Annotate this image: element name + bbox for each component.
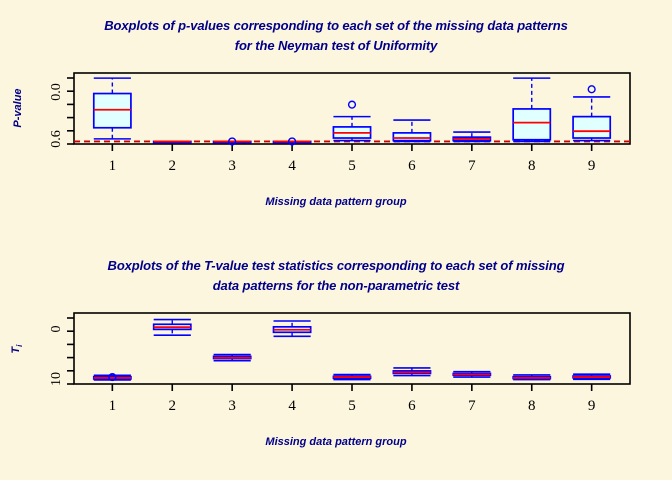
boxplot-box-group — [333, 101, 370, 140]
x-axis-tick-label: 1 — [109, 398, 117, 414]
x-axis-tick-label: 7 — [468, 398, 476, 414]
x-axis-tick-label: 8 — [528, 398, 536, 414]
x-axis-tick-label: 3 — [228, 398, 236, 414]
x-axis-label-tvalues: Missing data pattern group — [0, 436, 672, 448]
boxplot-box-group — [94, 78, 131, 139]
x-axis-tick-label: 4 — [288, 158, 296, 174]
x-axis-label-pvalues: Missing data pattern group — [0, 196, 672, 208]
y-axis-tick-label: 10 — [49, 372, 64, 386]
chart-panel-pvalues: Boxplots of p-values corresponding to ea… — [0, 0, 672, 240]
y-axis-tick-label: 0.0 — [49, 83, 64, 101]
x-axis-tick-label: 6 — [408, 398, 416, 414]
boxplot-box-group — [513, 375, 550, 380]
boxplot-box-group — [333, 375, 370, 380]
boxplot-box-group — [274, 321, 311, 336]
boxplot-box-group — [94, 374, 131, 381]
x-axis-tick-label: 6 — [408, 158, 416, 174]
boxplot-box-group — [154, 141, 191, 142]
x-axis-tick-label: 2 — [169, 398, 177, 414]
x-axis-tick-label: 7 — [468, 158, 476, 174]
boxplot-box-group — [453, 372, 490, 377]
x-axis-tick-label: 9 — [588, 158, 596, 174]
boxplot-box-group — [154, 320, 191, 336]
boxplot-box-group — [393, 120, 430, 141]
outlier-point — [588, 86, 595, 93]
box-iqr — [513, 109, 550, 140]
outlier-point — [349, 101, 356, 108]
y-axis-tick-label: 0 — [49, 326, 64, 333]
x-axis-tick-label: 2 — [169, 158, 177, 174]
x-axis-tick-label: 9 — [588, 398, 596, 414]
boxplot-box-group — [573, 374, 610, 379]
box-iqr — [573, 117, 610, 138]
y-axis-tick-label: 0.6 — [49, 130, 64, 148]
x-axis-tick-label: 4 — [288, 398, 296, 414]
boxplot-box-group — [214, 355, 251, 361]
boxplot-box-group — [513, 78, 550, 141]
x-axis-tick-label: 5 — [348, 398, 356, 414]
x-axis-tick-label: 1 — [109, 158, 117, 174]
x-axis-tick-label: 5 — [348, 158, 356, 174]
boxplot-box-group — [393, 368, 430, 376]
x-axis-tick-label: 3 — [228, 158, 236, 174]
boxplot-box-group — [453, 132, 490, 141]
boxplot-box-group — [573, 86, 610, 141]
box-iqr — [393, 133, 430, 141]
chart-panel-tvalues: Boxplots of the T-value test statistics … — [0, 240, 672, 480]
x-axis-tick-label: 8 — [528, 158, 536, 174]
